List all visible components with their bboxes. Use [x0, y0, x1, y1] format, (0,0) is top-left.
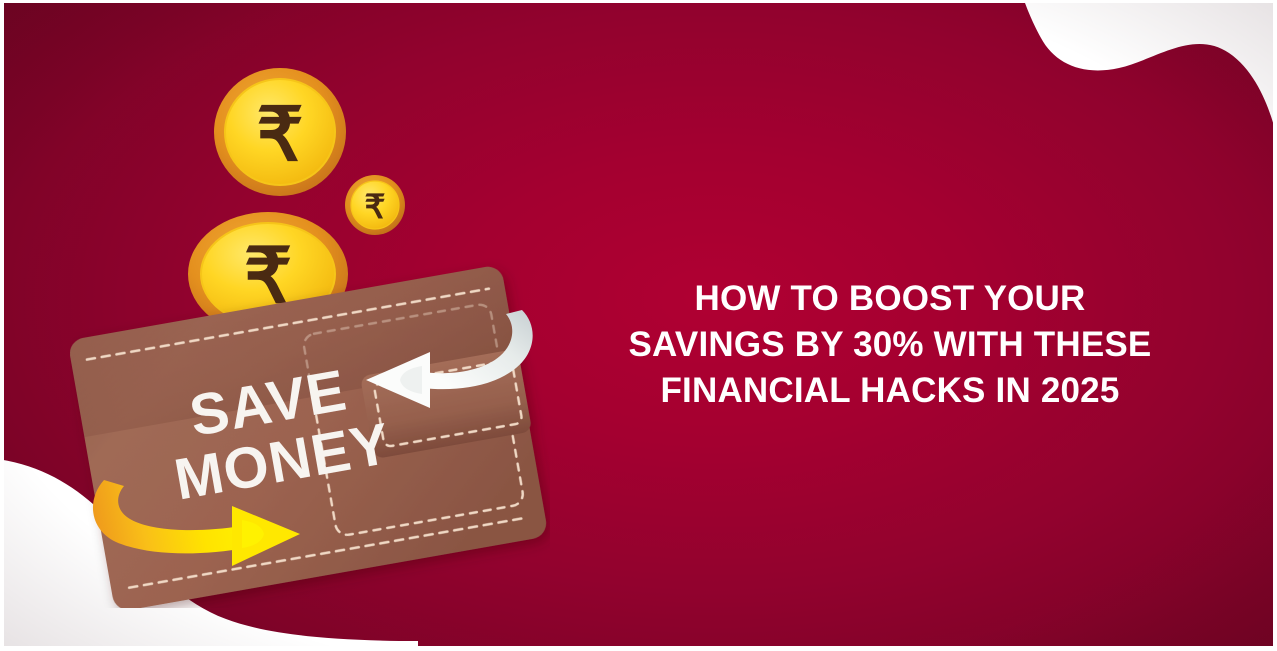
- page-title: HOW TO BOOST YOUR SAVINGS BY 30% WITH TH…: [560, 276, 1220, 414]
- headline-line-3: FINANCIAL HACKS IN 2025: [560, 368, 1220, 414]
- headline-line-2: SAVINGS BY 30% WITH THESE: [560, 322, 1220, 368]
- wallet-graphic: SAVE MONEY: [70, 248, 550, 608]
- svg-text:₹: ₹: [256, 95, 303, 177]
- headline-line-1: HOW TO BOOST YOUR: [560, 276, 1220, 322]
- rupee-coin-icon: ₹: [212, 64, 348, 200]
- savings-promo-banner: ₹ ₹: [0, 0, 1277, 651]
- wallet-illustration: SAVE MONEY: [70, 248, 550, 608]
- rupee-coin-icon: ₹: [344, 174, 406, 236]
- svg-text:₹: ₹: [365, 190, 386, 226]
